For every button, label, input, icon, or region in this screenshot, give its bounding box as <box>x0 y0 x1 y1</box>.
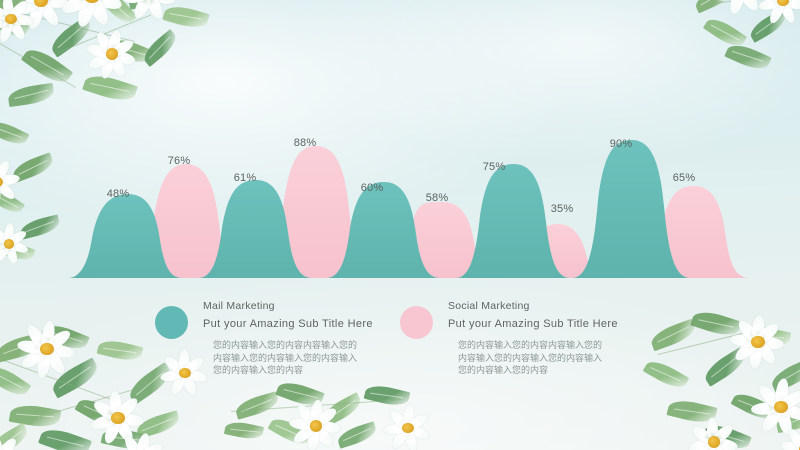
legend-body-social-marketing: 您的内容输入您的内容内容输入您的内容输入您的内容输入您的内容输入您的内容输入您的… <box>458 339 606 377</box>
legend-item-social-marketing[interactable]: Social Marketing Put your Amazing Sub Ti… <box>400 298 618 377</box>
petal-shape <box>0 433 4 450</box>
petal-shape <box>306 425 320 450</box>
petal-shape <box>89 412 119 432</box>
value-label-8: 35% <box>551 203 574 215</box>
flower-center-icon <box>708 436 720 447</box>
legend-subtitle-social-marketing: Put your Amazing Sub Title Here <box>448 315 618 334</box>
value-label-9: 90% <box>610 138 633 150</box>
value-label-3: 61% <box>234 172 257 184</box>
value-label-7: 75% <box>483 161 506 173</box>
petal-shape <box>706 417 718 442</box>
area-chart: 48% 76% 61% 88% 60% 58% 75% 35% 90% 65% <box>0 0 800 300</box>
chart-legend: Mail Marketing Put your Amazing Sub Titl… <box>0 298 800 410</box>
petal-shape <box>288 417 315 431</box>
legend-title-mail-marketing: Mail Marketing <box>203 298 373 315</box>
leaf-icon <box>38 424 92 450</box>
petal-shape <box>291 422 318 447</box>
legend-body-mail-marketing: 您的内容输入您的内容内容输入您的内容输入您的内容输入您的内容输入您的内容输入您的… <box>213 339 361 377</box>
petal-shape <box>102 416 122 446</box>
petal-shape <box>404 412 429 433</box>
petal-shape <box>0 435 19 450</box>
leaf-icon <box>268 414 313 450</box>
slide-canvas: 48% 76% 61% 88% 60% 58% 75% 35% 90% 65% … <box>0 0 800 450</box>
petal-shape <box>688 437 715 450</box>
hill-teal-75 <box>456 164 570 278</box>
petal-shape <box>780 440 800 450</box>
flower-center-icon <box>402 423 413 434</box>
flower-icon <box>120 438 162 450</box>
chart-hills-svg <box>0 0 800 300</box>
value-label-2: 76% <box>168 155 191 167</box>
petal-shape <box>137 441 165 450</box>
flower-icon <box>389 409 427 447</box>
petal-shape <box>690 423 716 446</box>
legend-swatch-social-marketing <box>400 306 433 339</box>
value-label-1: 48% <box>107 188 130 200</box>
value-label-10: 65% <box>673 172 696 184</box>
petal-shape <box>314 420 341 434</box>
leaf-icon <box>101 425 150 450</box>
legend-subtitle-mail-marketing: Put your Amazing Sub Title Here <box>203 315 373 334</box>
petal-shape <box>712 437 738 450</box>
leaf-icon <box>775 408 800 433</box>
value-label-5: 60% <box>361 182 384 194</box>
petal-shape <box>387 407 411 431</box>
legend-item-mail-marketing[interactable]: Mail Marketing Put your Amazing Sub Titl… <box>155 298 373 377</box>
petal-shape <box>383 423 407 435</box>
petal-shape <box>112 415 136 444</box>
petal-shape <box>782 445 800 450</box>
flower-center-icon <box>310 420 323 432</box>
leaf-icon <box>135 410 182 438</box>
leaf-icon <box>702 420 751 450</box>
value-label-4: 88% <box>294 137 317 149</box>
flower-center-icon <box>111 412 124 424</box>
petal-shape <box>786 427 800 450</box>
value-label-6: 58% <box>426 192 449 204</box>
petal-shape <box>709 422 735 447</box>
leaf-icon <box>336 421 379 449</box>
flower-icon <box>694 422 734 450</box>
leaf-icon <box>0 423 31 450</box>
legend-swatch-mail-marketing <box>155 306 188 339</box>
petal-shape <box>390 425 412 450</box>
petal-shape <box>116 412 145 427</box>
petal-shape <box>0 442 1 450</box>
flower-icon <box>295 405 337 447</box>
legend-title-social-marketing: Social Marketing <box>448 298 618 315</box>
petal-shape <box>698 440 718 450</box>
petal-shape <box>311 423 336 450</box>
petal-shape <box>402 426 419 450</box>
flower-icon <box>0 438 20 450</box>
flower-icon <box>786 430 800 450</box>
petal-shape <box>708 439 729 450</box>
petal-shape <box>122 434 145 450</box>
petal-shape <box>405 423 431 441</box>
petal-shape <box>135 432 152 450</box>
leaf-icon <box>224 419 264 442</box>
